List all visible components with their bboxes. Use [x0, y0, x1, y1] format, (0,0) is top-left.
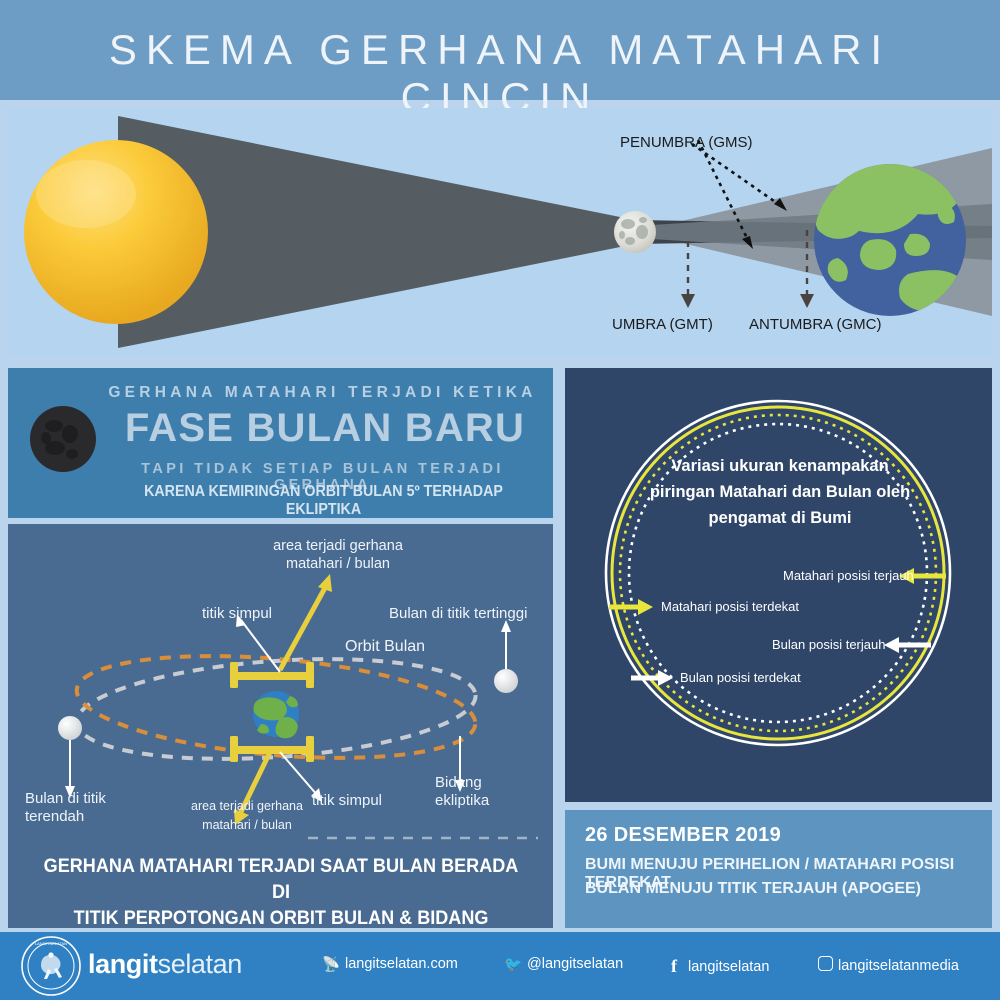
annotation-sun-nearest: Matahari posisi terdekat — [661, 599, 799, 614]
moon-sphere — [614, 211, 656, 253]
label-antumbra: ANTUMBRA (GMC) — [749, 316, 882, 333]
social-link-instagram[interactable]: langitselatanmedia — [818, 956, 959, 974]
date-headline: 26 DESEMBER 2019 — [585, 824, 781, 847]
social-link-website[interactable]: 📡langitselatan.com — [322, 956, 458, 973]
rss-icon: 📡 — [322, 956, 340, 973]
orbit-label-ecliptic-plane: Bidang ekliptika — [435, 774, 489, 811]
brand-light: selatan — [158, 949, 242, 979]
new-moon-line4: KARENA KEMIRINGAN ORBIT BULAN 5º TERHADA… — [114, 483, 533, 519]
annotation-moon-nearest: Bulan posisi terdekat — [680, 670, 801, 685]
social-label-twitter: @langitselatan — [527, 956, 623, 972]
node-marker-top — [230, 662, 314, 688]
brand-bold: langit — [88, 949, 158, 979]
variation-panel: Variasi ukuran kenampakan piringan Matah… — [565, 368, 992, 802]
eclipse-diagram-panel: PENUMBRA (GMS) UMBRA (GMT) ANTUMBRA (GMC… — [8, 108, 992, 356]
orbit-label-orbit-bulan: Orbit Bulan — [345, 637, 425, 657]
arrowhead — [800, 294, 814, 308]
twitter-icon: 🐦 — [504, 956, 522, 973]
new-moon-band: GERHANA MATAHARI TERJADI KETIKA FASE BUL… — [8, 368, 553, 518]
orbit-label-moon-highest: Bulan di titik tertinggi — [389, 605, 527, 623]
new-moon-headline: FASE BULAN BARU — [100, 405, 550, 451]
social-label-website: langitselatan.com — [345, 956, 458, 972]
social-label-instagram: langitselatanmedia — [838, 958, 959, 974]
label-penumbra: PENUMBRA (GMS) — [620, 134, 753, 151]
arrowhead — [318, 574, 332, 592]
label-umbra: UMBRA (GMT) — [612, 316, 713, 333]
new-moon-line1: GERHANA MATAHARI TERJADI KETIKA — [100, 384, 545, 402]
annotation-moon-farthest: Bulan posisi terjauh — [772, 637, 885, 652]
moon-lowest-marker — [58, 716, 82, 740]
orbit-label-area-top: area terjadi gerhana matahari / bulan — [258, 538, 418, 573]
sun-sphere — [24, 140, 208, 324]
social-link-twitter[interactable]: 🐦@langitselatan — [504, 956, 623, 973]
new-moon-icon — [22, 398, 102, 478]
header-bar: SKEMA GERHANA MATAHARI CINCIN — [0, 0, 1000, 100]
social-link-facebook[interactable]: flangitselatan — [665, 956, 769, 977]
orbit-label-moon-lowest: Bulan di titik terendah — [25, 790, 106, 827]
arrowhead — [681, 294, 695, 308]
footer-bar: LANGITSELATAN langitselatan 📡langitselat… — [0, 932, 1000, 1000]
langitselatan-seal-logo: LANGITSELATAN — [20, 935, 82, 997]
orbit-label-area-bottom: area terjadi gerhana matahari / bulan — [182, 797, 312, 835]
variation-title: Variasi ukuran kenampakan piringan Matah… — [615, 453, 945, 531]
date-panel: 26 DESEMBER 2019 BUMI MENUJU PERIHELION … — [565, 810, 992, 928]
social-label-facebook: langitselatan — [688, 959, 769, 975]
date-line2: BULAN MENUJU TITIK TERJAUH (APOGEE) — [585, 880, 921, 898]
instagram-icon — [818, 956, 833, 971]
brand-wordmark: langitselatan — [88, 949, 242, 980]
node-leader-top — [241, 620, 280, 672]
moon-highest-marker — [494, 669, 518, 693]
orbit-diagram-panel: area terjadi gerhana matahari / bulan ti… — [8, 524, 553, 928]
orbit-label-node-top: titik simpul — [202, 605, 272, 623]
infographic-root: SKEMA GERHANA MATAHARI CINCIN — [0, 0, 1000, 1000]
facebook-icon: f — [665, 956, 683, 977]
variation-svg — [565, 368, 992, 802]
orbit-label-node-bottom: titik simpul — [312, 792, 382, 810]
earth-small-icon — [253, 691, 299, 738]
svg-text:LANGITSELATAN: LANGITSELATAN — [35, 941, 67, 946]
annotation-sun-farthest: Matahari posisi terjauh — [783, 568, 914, 583]
